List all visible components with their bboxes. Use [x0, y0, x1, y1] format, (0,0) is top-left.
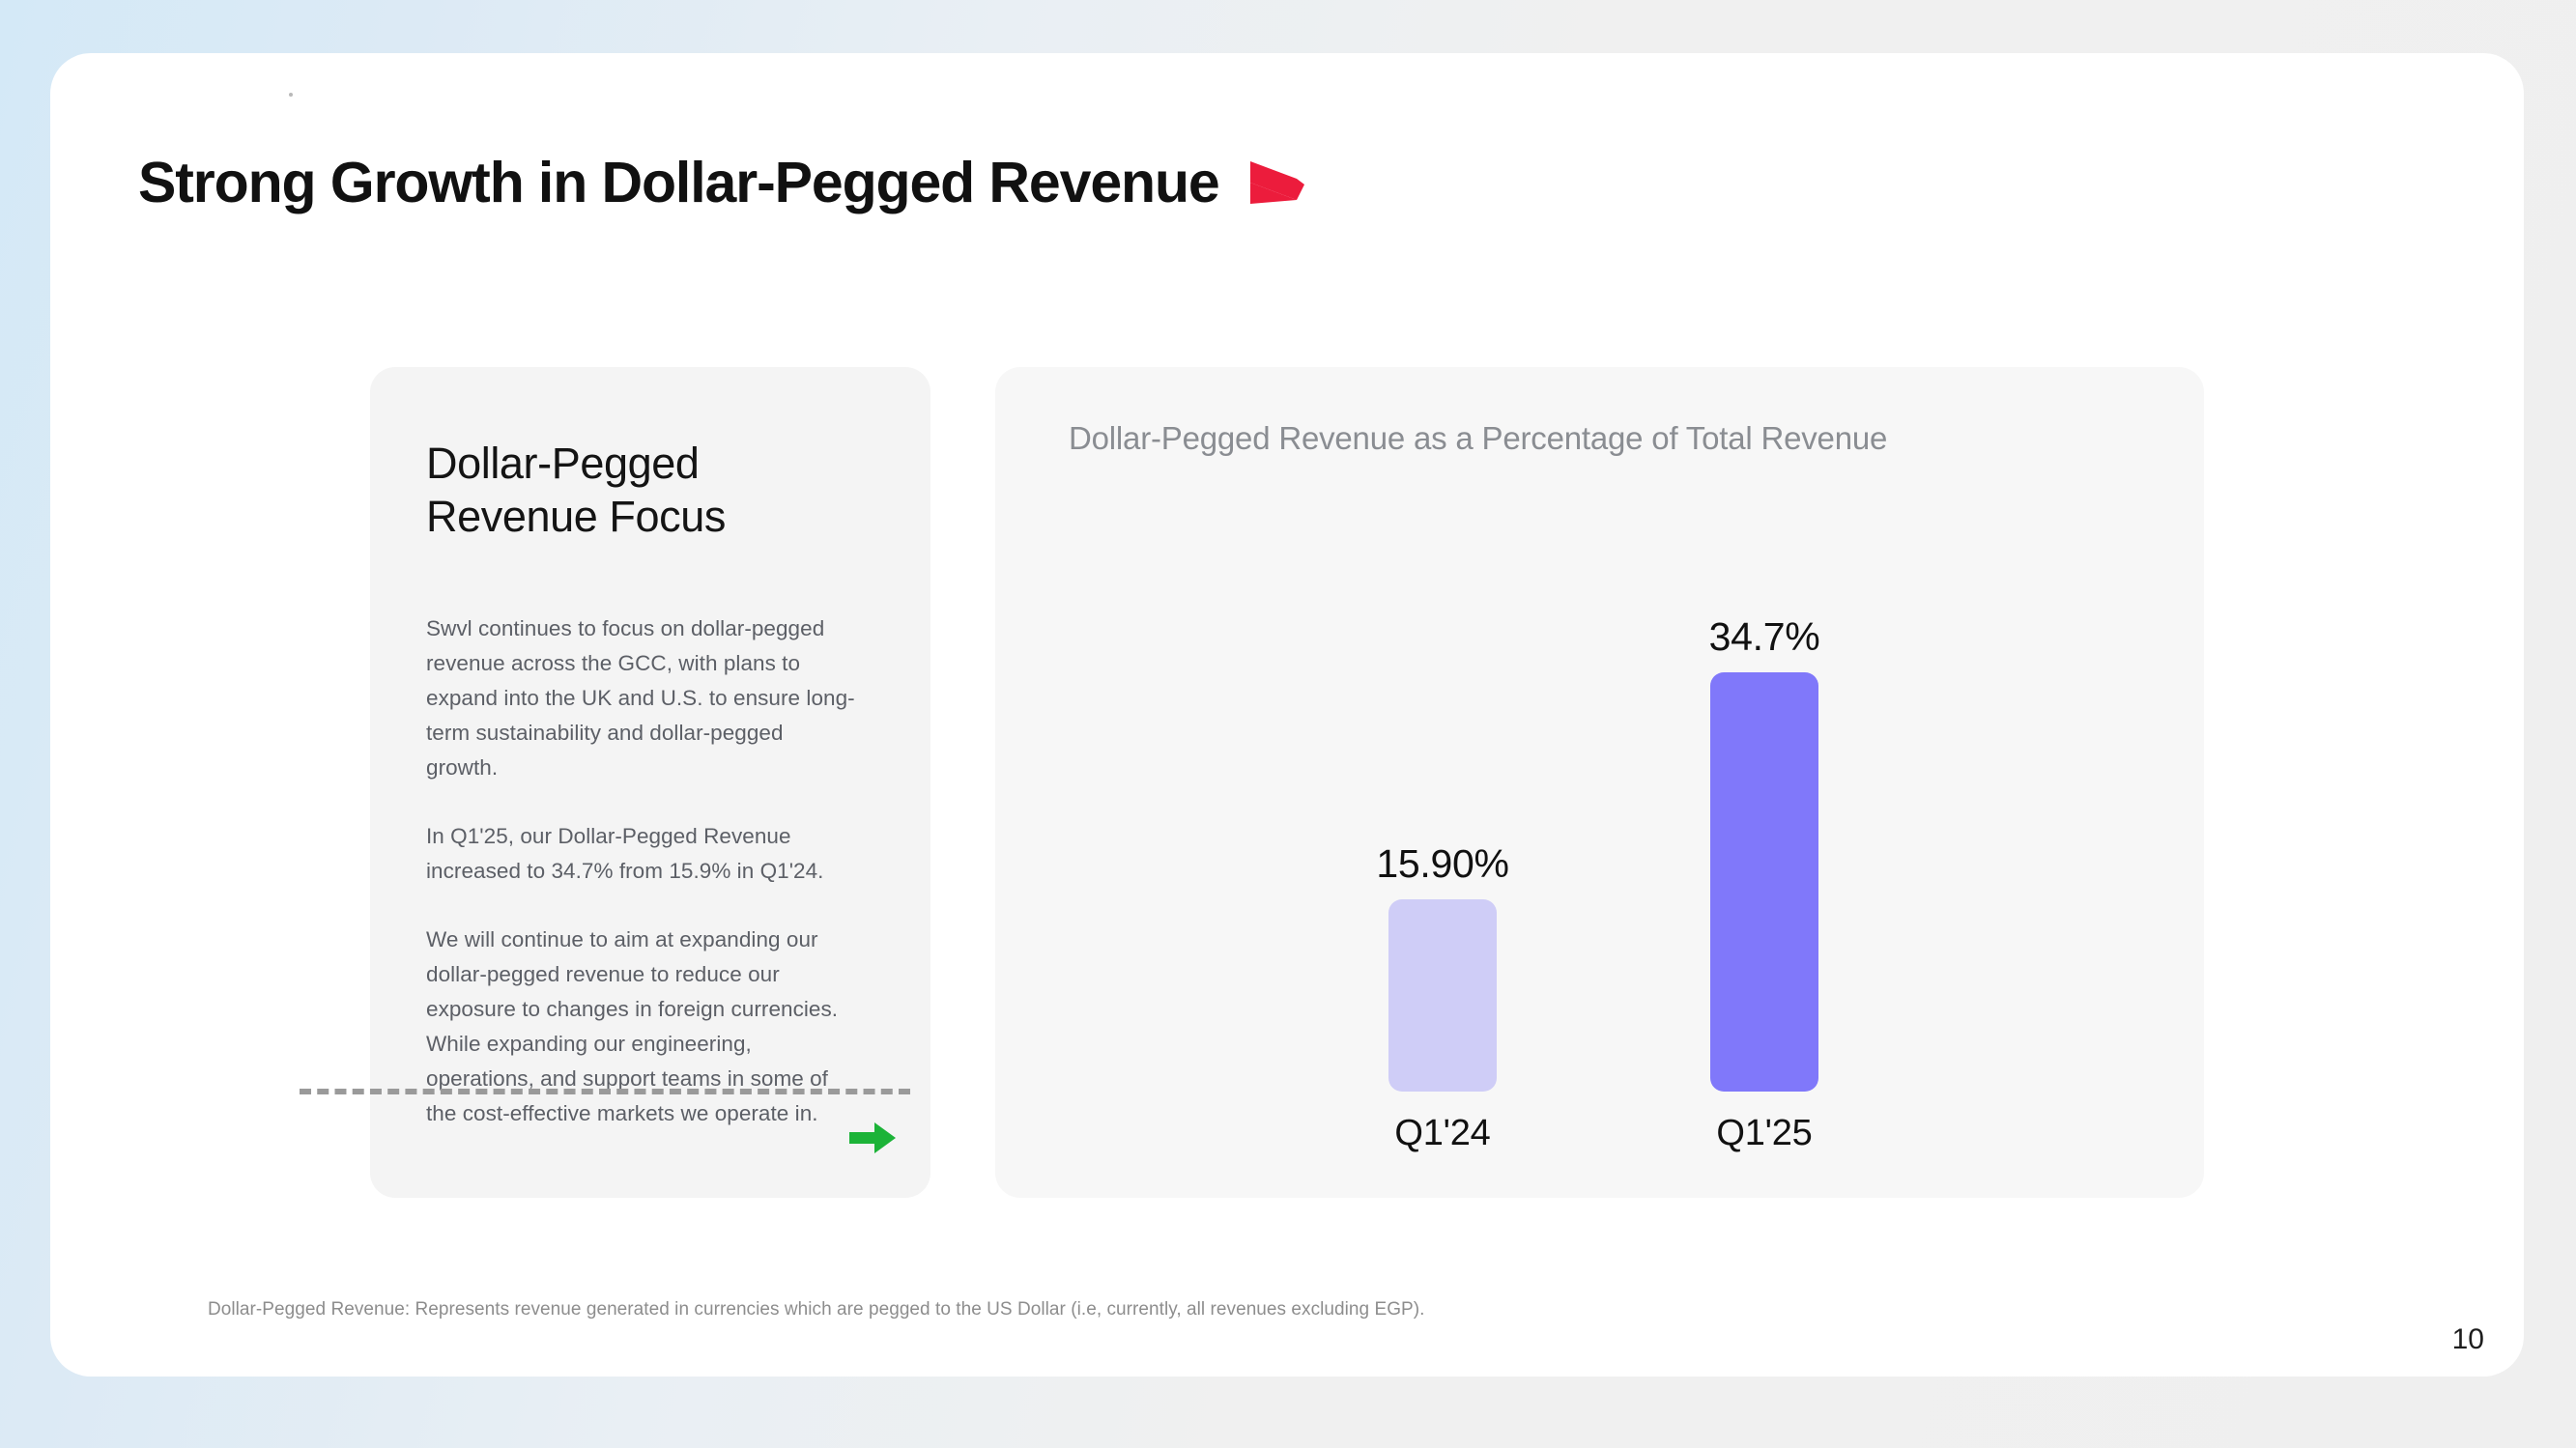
category-label-q124: Q1'24: [1394, 1113, 1490, 1154]
bar-chart-plot: 15.90% Q1'24 34.7% Q1'25: [0, 0, 2576, 1448]
bar-value-label-q124: 15.90%: [1376, 841, 1508, 887]
page-number: 10: [2452, 1323, 2484, 1356]
category-label-q125: Q1'25: [1716, 1113, 1812, 1154]
footnote: Dollar-Pegged Revenue: Represents revenu…: [208, 1299, 1424, 1320]
chart-baseline: [300, 1089, 910, 1094]
bar-q125[interactable]: [1710, 672, 1818, 1092]
bar-q124[interactable]: [1388, 899, 1497, 1092]
bar-group-q124: 15.90% Q1'24: [1388, 899, 1497, 1092]
bar-value-label-q125: 34.7%: [1709, 614, 1820, 660]
bar-group-q125: 34.7% Q1'25: [1710, 672, 1818, 1092]
